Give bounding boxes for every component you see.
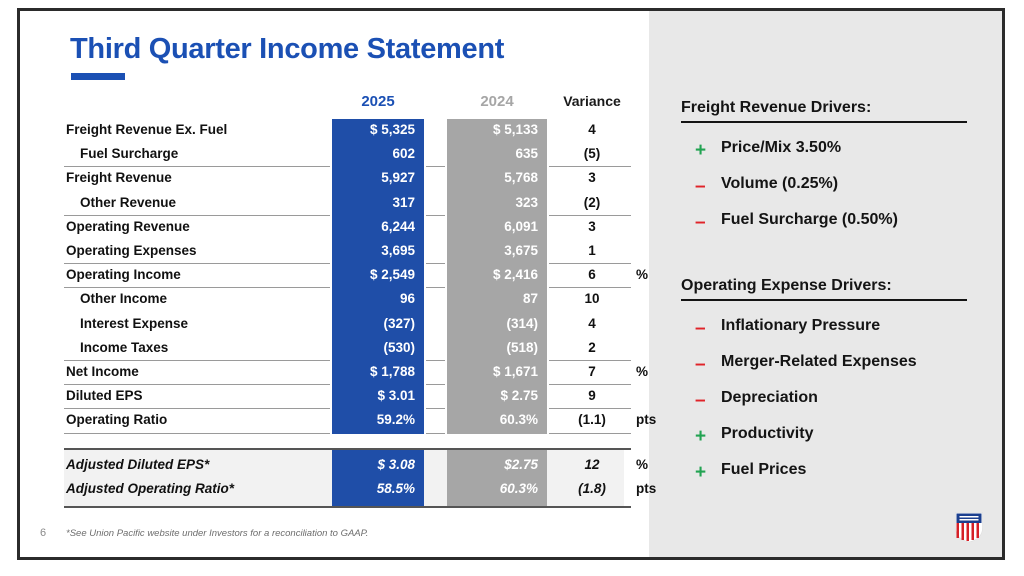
row-value-2025: $ 5,325 [332, 122, 415, 137]
driver-label: Price/Mix 3.50% [721, 139, 841, 157]
row-separator [549, 433, 631, 434]
row-value-2024: 635 [447, 146, 538, 161]
row-value-2024: 60.3% [447, 412, 538, 427]
table-body: Freight Revenue Ex. Fuel$ 5,325$ 5,1334F… [64, 119, 624, 434]
adjusted-table-row: Adjusted Operating Ratio*58.5%60.3%(1.8)… [64, 478, 624, 502]
row-value-variance: 3 [553, 219, 631, 234]
row-separator [426, 433, 445, 434]
table-header-row: 2025 2024 Variance [64, 93, 624, 119]
row-value-2024: $ 1,671 [447, 364, 538, 379]
row-label: Net Income [66, 364, 139, 379]
row-label: Operating Income [66, 267, 181, 282]
row-value-2024: 60.3% [447, 481, 538, 496]
drivers-block: Freight Revenue Drivers:+Price/Mix 3.50%… [681, 99, 981, 241]
driver-label: Fuel Surcharge (0.50%) [721, 211, 898, 229]
driver-item: –Fuel Surcharge (0.50%) [681, 205, 981, 241]
row-separator [549, 360, 631, 361]
row-value-variance: 9 [553, 388, 631, 403]
driver-label: Productivity [721, 425, 813, 443]
page-number: 6 [40, 527, 46, 539]
driver-item: +Productivity [681, 419, 981, 455]
row-separator [549, 287, 631, 288]
row-value-variance: (1.1) [553, 412, 631, 427]
driver-item: +Price/Mix 3.50% [681, 133, 981, 169]
row-value-variance: 12 [553, 457, 631, 472]
union-pacific-shield-logo [954, 511, 984, 543]
row-separator [549, 166, 631, 167]
table-row: Other Income968710 [64, 288, 624, 312]
driver-item: –Inflationary Pressure [681, 311, 981, 347]
row-value-2025: 58.5% [332, 481, 415, 496]
row-value-variance: 3 [553, 170, 631, 185]
row-label: Other Income [80, 291, 167, 306]
driver-item: –Volume (0.25%) [681, 169, 981, 205]
row-value-2025: (327) [332, 316, 415, 331]
row-separator [426, 263, 445, 264]
row-separator [64, 360, 330, 361]
row-value-2025: 5,927 [332, 170, 415, 185]
row-value-2024: (518) [447, 340, 538, 355]
row-value-variance: 4 [553, 122, 631, 137]
table-row: Interest Expense(327)(314)4 [64, 313, 624, 337]
row-value-suffix: pts [636, 412, 656, 427]
row-value-2025: 59.2% [332, 412, 415, 427]
row-value-2025: 3,695 [332, 243, 415, 258]
table-row: Operating Revenue6,2446,0913 [64, 216, 624, 240]
row-value-2024: 6,091 [447, 219, 538, 234]
row-value-2024: 87 [447, 291, 538, 306]
column-header-2025: 2025 [332, 93, 424, 110]
row-separator [64, 166, 330, 167]
minus-icon: – [695, 177, 706, 196]
row-separator [426, 166, 445, 167]
row-value-suffix: % [636, 457, 648, 472]
row-value-variance: 2 [553, 340, 631, 355]
row-label: Adjusted Operating Ratio* [66, 481, 234, 496]
adjusted-top-rule [64, 448, 631, 450]
row-value-variance: 7 [553, 364, 631, 379]
adjusted-bottom-rule [64, 506, 631, 508]
table-row: Operating Income$ 2,549$ 2,4166% [64, 264, 624, 288]
spacer [681, 301, 981, 311]
driver-item: +Fuel Prices [681, 455, 981, 491]
plus-icon: + [695, 141, 706, 160]
row-value-2024: $ 2,416 [447, 267, 538, 282]
row-label: Diluted EPS [66, 388, 143, 403]
row-value-2025: 317 [332, 195, 415, 210]
row-separator [426, 287, 445, 288]
row-label: Adjusted Diluted EPS* [66, 457, 209, 472]
row-value-variance: 4 [553, 316, 631, 331]
minus-icon: – [695, 213, 706, 232]
row-separator [549, 215, 631, 216]
drivers-block: Operating Expense Drivers:–Inflationary … [681, 277, 981, 491]
row-value-variance: 10 [553, 291, 631, 306]
table-row: Diluted EPS$ 3.01$ 2.759 [64, 385, 624, 409]
row-label: Interest Expense [80, 316, 188, 331]
drivers-block-title: Freight Revenue Drivers: [681, 99, 981, 121]
row-value-variance: (1.8) [553, 481, 631, 496]
row-value-variance: 6 [553, 267, 631, 282]
row-label: Freight Revenue [66, 170, 172, 185]
row-separator [64, 384, 330, 385]
row-label: Operating Ratio [66, 412, 167, 427]
adjusted-table-row: Adjusted Diluted EPS*$ 3.08$2.7512% [64, 454, 624, 478]
row-label: Freight Revenue Ex. Fuel [66, 122, 227, 137]
row-value-2024: $ 2.75 [447, 388, 538, 403]
row-label: Operating Expenses [66, 243, 197, 258]
row-label: Other Revenue [80, 195, 176, 210]
table-row: Operating Expenses3,6953,6751 [64, 240, 624, 264]
row-separator [426, 408, 445, 409]
row-value-2025: 6,244 [332, 219, 415, 234]
table-row: Other Revenue317323(2) [64, 192, 624, 216]
row-value-2025: $ 3.08 [332, 457, 415, 472]
title-accent-bar [71, 73, 125, 80]
adjusted-metrics-block: Adjusted Diluted EPS*$ 3.08$2.7512%Adjus… [64, 448, 624, 508]
row-value-2025: 602 [332, 146, 415, 161]
driver-label: Merger-Related Expenses [721, 353, 917, 371]
row-value-2024: $2.75 [447, 457, 538, 472]
row-label: Fuel Surcharge [80, 146, 178, 161]
plus-icon: + [695, 463, 706, 482]
row-value-variance: (5) [553, 146, 631, 161]
spacer [681, 123, 981, 133]
row-value-variance: 1 [553, 243, 631, 258]
row-value-2024: $ 5,133 [447, 122, 538, 137]
row-value-variance: (2) [553, 195, 631, 210]
income-statement-table: 2025 2024 Variance Freight Revenue Ex. F… [64, 93, 624, 434]
driver-item: –Merger-Related Expenses [681, 347, 981, 383]
column-header-variance: Variance [553, 93, 631, 109]
row-separator [426, 360, 445, 361]
drivers-block-title: Operating Expense Drivers: [681, 277, 981, 299]
row-separator [64, 287, 330, 288]
table-row: Freight Revenue5,9275,7683 [64, 167, 624, 191]
row-separator [426, 384, 445, 385]
driver-item: –Depreciation [681, 383, 981, 419]
presentation-slide: Third Quarter Income Statement 2025 2024… [17, 8, 1005, 560]
driver-label: Volume (0.25%) [721, 175, 838, 193]
row-separator [549, 408, 631, 409]
row-separator [64, 408, 330, 409]
footnote-text: *See Union Pacific website under Investo… [66, 528, 368, 539]
row-value-suffix: pts [636, 481, 656, 496]
table-row: Freight Revenue Ex. Fuel$ 5,325$ 5,1334 [64, 119, 624, 143]
table-row: Operating Ratio59.2%60.3%(1.1)pts [64, 409, 624, 433]
drivers-pane: Freight Revenue Drivers:+Price/Mix 3.50%… [649, 11, 1002, 557]
table-row: Income Taxes(530)(518)2 [64, 337, 624, 361]
driver-label: Inflationary Pressure [721, 317, 880, 335]
row-value-2024: (314) [447, 316, 538, 331]
row-value-2024: 323 [447, 195, 538, 210]
column-header-2024: 2024 [447, 93, 547, 110]
row-value-2024: 5,768 [447, 170, 538, 185]
table-row: Fuel Surcharge602635(5) [64, 143, 624, 167]
row-value-2025: $ 3.01 [332, 388, 415, 403]
row-value-2025: $ 2,549 [332, 267, 415, 282]
page-title: Third Quarter Income Statement [70, 33, 504, 66]
driver-label: Depreciation [721, 389, 818, 407]
plus-icon: + [695, 427, 706, 446]
row-separator [64, 215, 330, 216]
row-value-2025: 96 [332, 291, 415, 306]
row-value-suffix: % [636, 364, 648, 379]
minus-icon: – [695, 319, 706, 338]
row-separator [64, 263, 330, 264]
row-value-suffix: % [636, 267, 648, 282]
row-value-2025: (530) [332, 340, 415, 355]
minus-icon: – [695, 391, 706, 410]
row-separator [64, 433, 330, 434]
row-separator [549, 384, 631, 385]
row-separator [549, 263, 631, 264]
minus-icon: – [695, 355, 706, 374]
row-separator [426, 215, 445, 216]
left-content-pane: Third Quarter Income Statement 2025 2024… [20, 11, 649, 557]
table-row: Net Income$ 1,788$ 1,6717% [64, 361, 624, 385]
row-value-2024: 3,675 [447, 243, 538, 258]
row-value-2025: $ 1,788 [332, 364, 415, 379]
row-label: Income Taxes [80, 340, 168, 355]
row-label: Operating Revenue [66, 219, 190, 234]
driver-label: Fuel Prices [721, 461, 806, 479]
